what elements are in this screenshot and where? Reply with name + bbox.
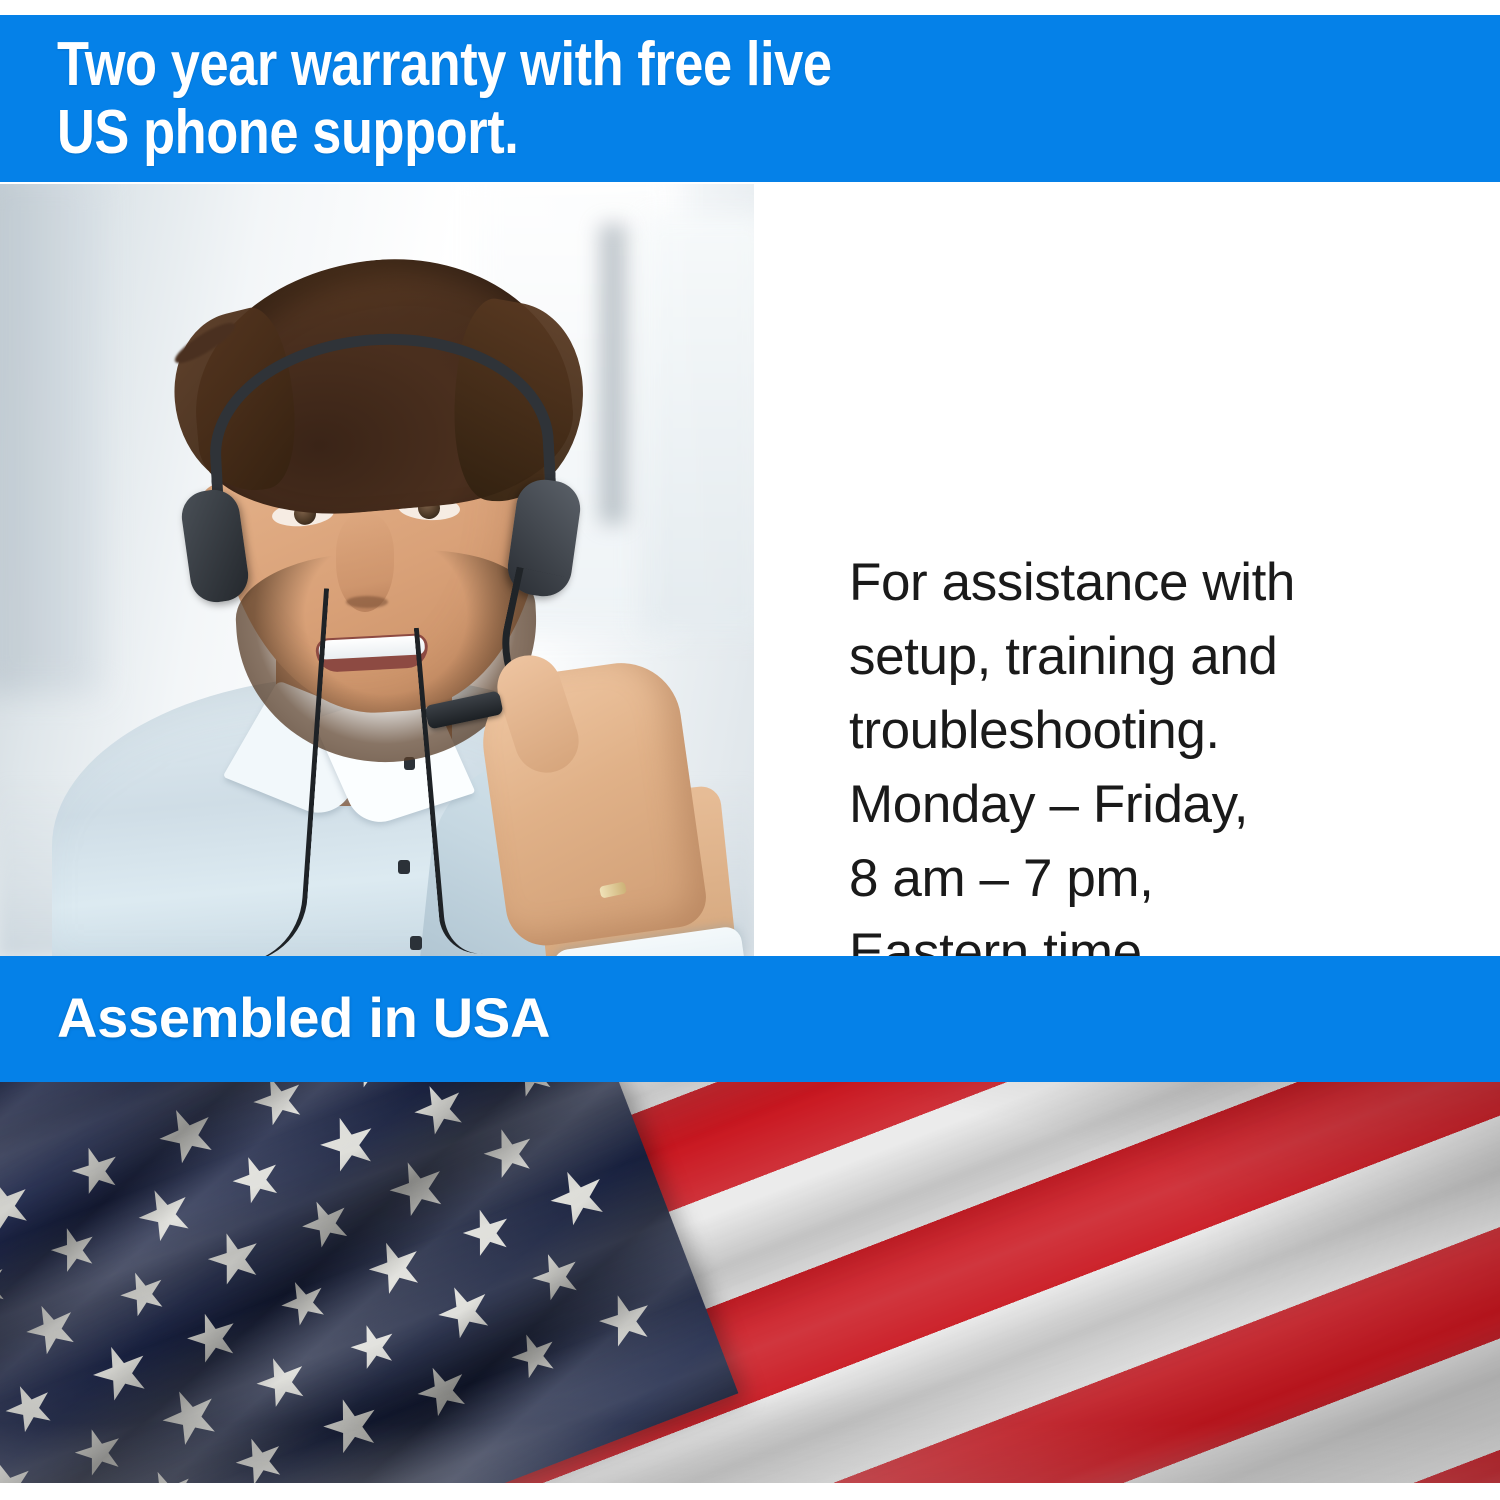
window-blur-left [0, 184, 100, 694]
window-blur-right [640, 214, 754, 634]
flag-bottom-fade [0, 1423, 1500, 1483]
assembled-in-usa-label: Assembled in USA [57, 988, 550, 1048]
warranty-headline-line-2: US phone support. [57, 99, 518, 167]
headset-cable-left [183, 580, 329, 956]
shirt-button-2 [398, 860, 410, 874]
agent-smile [315, 633, 429, 673]
support-hours-text: For assistance with setup, training and … [849, 546, 1429, 990]
agent-teeth [318, 635, 425, 660]
window-frame-blur [600, 224, 626, 524]
us-flag-image [0, 1082, 1500, 1483]
agent-nostrils [346, 596, 388, 608]
warranty-headline-line-1: Two year warranty with free live [57, 31, 832, 99]
support-agent-photo [0, 184, 754, 956]
marketing-info-card: Two year warranty with free live US phon… [0, 0, 1500, 1500]
assembled-in-usa-banner: Assembled in USA [0, 956, 1500, 1082]
support-info-section: For assistance with setup, training and … [0, 184, 1500, 956]
support-hours-copy: For assistance with setup, training and … [849, 546, 1429, 990]
warranty-banner: Two year warranty with free live US phon… [0, 15, 1500, 182]
shirt-button-3 [410, 936, 422, 950]
